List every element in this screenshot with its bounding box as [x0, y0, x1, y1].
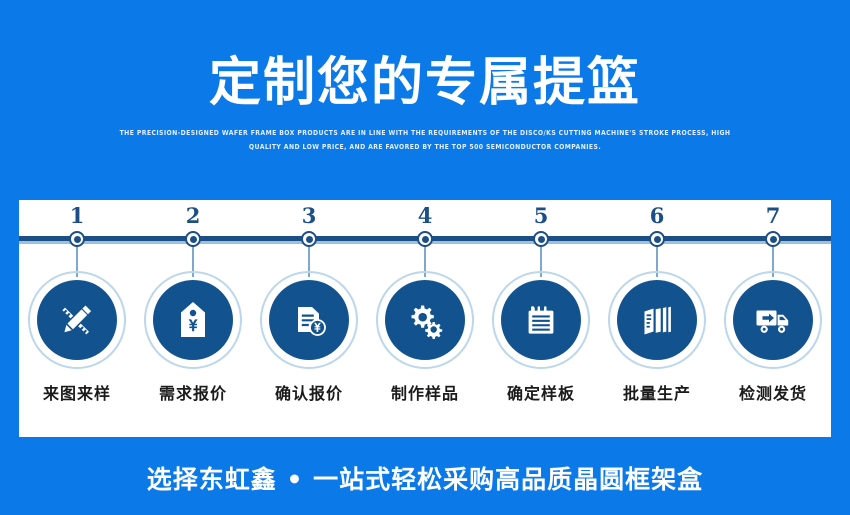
step-number: 5 [534, 205, 549, 227]
pencil-ruler-icon [55, 298, 99, 342]
timeline-node [185, 231, 201, 247]
timeline-node [649, 231, 665, 247]
step-icon-badge [28, 271, 126, 369]
step-label: 确定样板 [507, 380, 575, 404]
step-label: 确认报价 [275, 380, 343, 404]
step-number: 7 [766, 205, 781, 227]
footer-tagline: 选择东虹鑫 • 一站式轻松采购高品质晶圆框架盒 [0, 460, 850, 496]
header-subtitle-line1: THE PRECISION-DESIGNED WAFER FRAME BOX P… [34, 126, 816, 140]
step-number: 1 [70, 205, 85, 227]
badge-disc [37, 280, 117, 360]
promo-banner: 定制您的专属提篮 THE PRECISION-DESIGNED WAFER FR… [0, 0, 850, 515]
step-icon-badge [260, 271, 358, 369]
timeline-node [69, 231, 85, 247]
process-step-list: 1 来图来样 [19, 200, 831, 437]
step-icon-badge [492, 271, 590, 369]
stacked-boxes-icon [635, 298, 679, 342]
process-step-2[interactable]: 2 需求报价 [135, 200, 251, 437]
step-label: 来图来样 [43, 380, 111, 404]
process-step-1[interactable]: 1 来图来样 [19, 200, 135, 437]
badge-disc [269, 280, 349, 360]
gears-icon [403, 298, 447, 342]
page-title: 定制您的专属提篮 [0, 52, 850, 114]
badge-disc [733, 280, 813, 360]
process-step-7[interactable]: 7 [715, 200, 831, 437]
timeline-node [301, 231, 317, 247]
header-block: 定制您的专属提篮 THE PRECISION-DESIGNED WAFER FR… [0, 52, 850, 154]
step-number: 3 [302, 205, 317, 227]
badge-disc [617, 280, 697, 360]
badge-disc [501, 280, 581, 360]
step-icon-badge [144, 271, 242, 369]
timeline-node [765, 231, 781, 247]
process-step-5[interactable]: 5 [483, 200, 599, 437]
header-subtitle-line2: QUALITY AND LOW PRICE, AND ARE FAVORED B… [34, 140, 816, 154]
badge-disc [153, 280, 233, 360]
step-label: 需求报价 [159, 380, 227, 404]
step-label: 制作样品 [391, 380, 459, 404]
step-number: 4 [418, 205, 433, 227]
step-label: 检测发货 [739, 380, 807, 404]
step-number: 6 [650, 205, 665, 227]
step-icon-badge [724, 271, 822, 369]
delivery-truck-icon [751, 298, 795, 342]
step-label: 批量生产 [623, 380, 691, 404]
process-step-3[interactable]: 3 确认报价 [251, 200, 367, 437]
document-yuan-icon [287, 298, 331, 342]
step-number: 2 [186, 205, 201, 227]
process-step-4[interactable]: 4 制作样品 [367, 200, 483, 437]
price-tag-yuan-icon [171, 298, 215, 342]
badge-disc [385, 280, 465, 360]
footer-block: 选择东虹鑫 • 一站式轻松采购高品质晶圆框架盒 [0, 460, 850, 496]
header-subtitle: THE PRECISION-DESIGNED WAFER FRAME BOX P… [34, 126, 816, 154]
step-icon-badge [608, 271, 706, 369]
timeline-node [533, 231, 549, 247]
process-step-6[interactable]: 6 [599, 200, 715, 437]
timeline-node [417, 231, 433, 247]
notepad-icon [519, 298, 563, 342]
step-icon-badge [376, 271, 474, 369]
